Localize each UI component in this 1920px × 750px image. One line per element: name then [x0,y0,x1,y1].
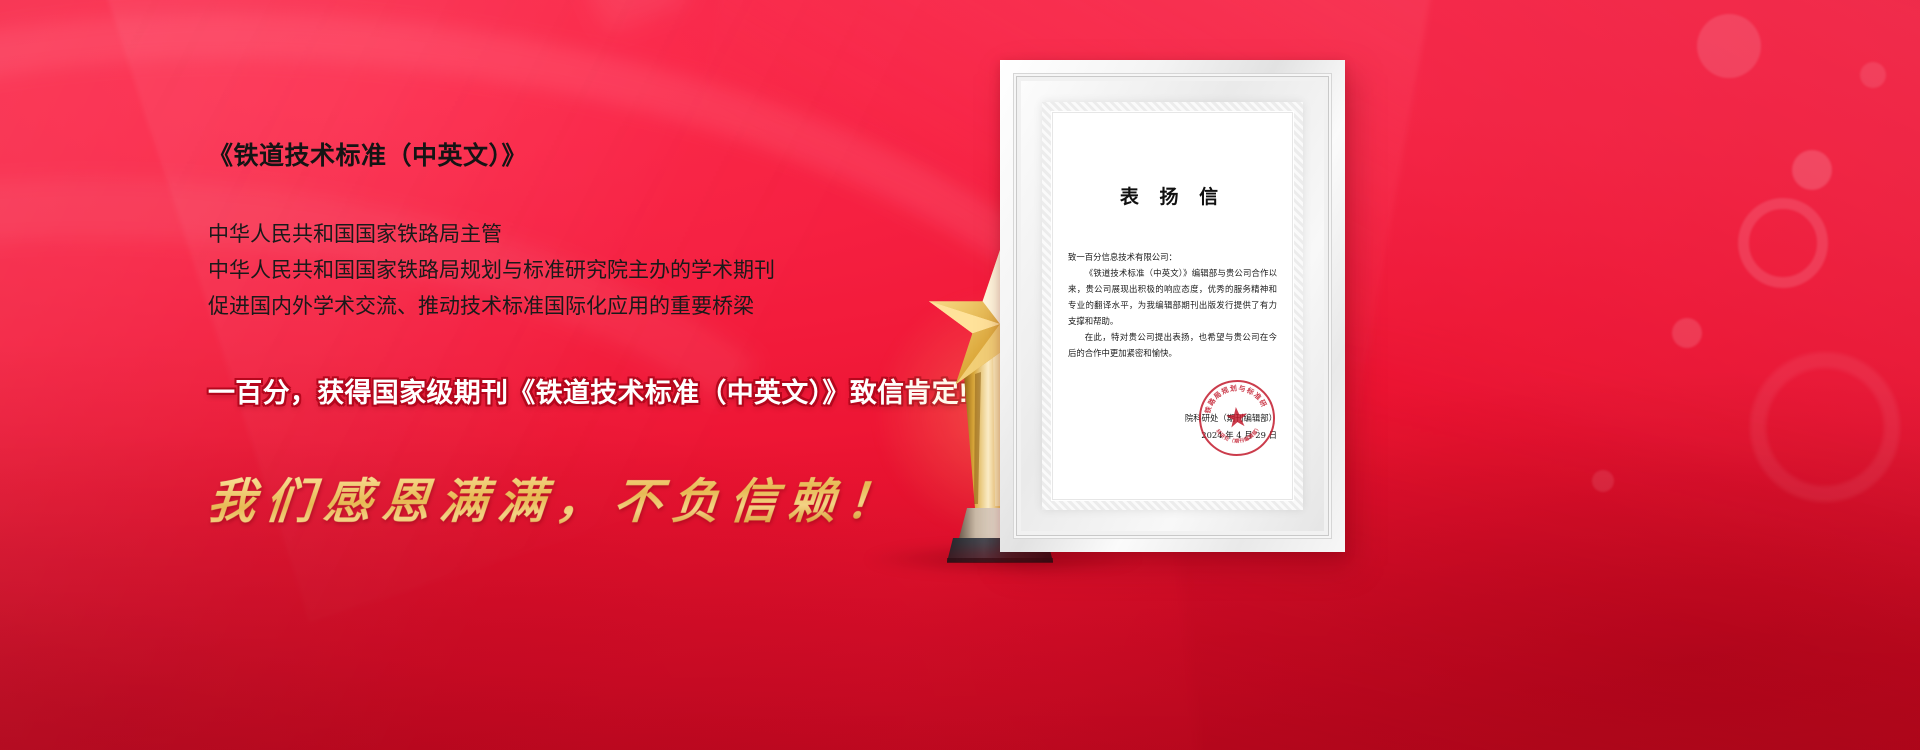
signature-date: 2024 年 4 月 29 日 [1185,427,1277,444]
journal-description-line: 促进国内外学术交流、推动技术标准国际化应用的重要桥梁 [208,289,968,325]
certificate-signature: 院科研处（期刊编辑部） 2024 年 4 月 29 日 [1185,410,1277,444]
framed-certificate: 表 扬 信 致一百分信息技术有限公司： 《铁道技术标准（中英文）》编辑部与贵公司… [1000,60,1345,552]
signature-organization: 院科研处（期刊编辑部） [1185,410,1277,427]
certificate-title: 表 扬 信 [1068,182,1277,209]
headline-text: 一百分，获得国家级期刊《铁道技术标准（中英文）》致信肯定! [208,371,968,410]
frame-bevel: 表 扬 信 致一百分信息技术有限公司： 《铁道技术标准（中英文）》编辑部与贵公司… [1013,73,1332,539]
certificate-paragraph: 在此，特对贵公司提出表扬，也希望与贵公司在今后的合作中更加紧密和愉快。 [1068,329,1277,361]
certificate-salutation: 致一百分信息技术有限公司： [1068,249,1277,265]
journal-descriptions: 中华人民共和国国家铁路局主管 中华人民共和国国家铁路局规划与标准研究院主办的学术… [208,217,968,325]
journal-description-line: 中华人民共和国国家铁路局主管 [208,217,968,253]
certificate-body: 致一百分信息技术有限公司： 《铁道技术标准（中英文）》编辑部与贵公司合作以来，贵… [1068,249,1277,361]
promo-banner: 《铁道技术标准（中英文）》 中华人民共和国国家铁路局主管 中华人民共和国国家铁路… [0,0,1920,750]
banner-copy: 《铁道技术标准（中英文）》 中华人民共和国国家铁路局主管 中华人民共和国国家铁路… [208,140,968,532]
certificate-content: 表 扬 信 致一百分信息技术有限公司： 《铁道技术标准（中英文）》编辑部与贵公司… [1052,112,1293,500]
gratitude-calligraphy: 我们感恩满满，不负信赖！ [205,462,971,532]
certificate-paper: 表 扬 信 致一百分信息技术有限公司： 《铁道技术标准（中英文）》编辑部与贵公司… [1042,102,1303,510]
certificate-paragraph: 《铁道技术标准（中英文）》编辑部与贵公司合作以来，贵公司展现出积极的响应态度，优… [1068,265,1277,329]
journal-description-line: 中华人民共和国国家铁路局规划与标准研究院主办的学术期刊 [208,253,968,289]
journal-title: 《铁道技术标准（中英文）》 [208,140,968,173]
picture-frame: 表 扬 信 致一百分信息技术有限公司： 《铁道技术标准（中英文）》编辑部与贵公司… [1000,60,1345,552]
